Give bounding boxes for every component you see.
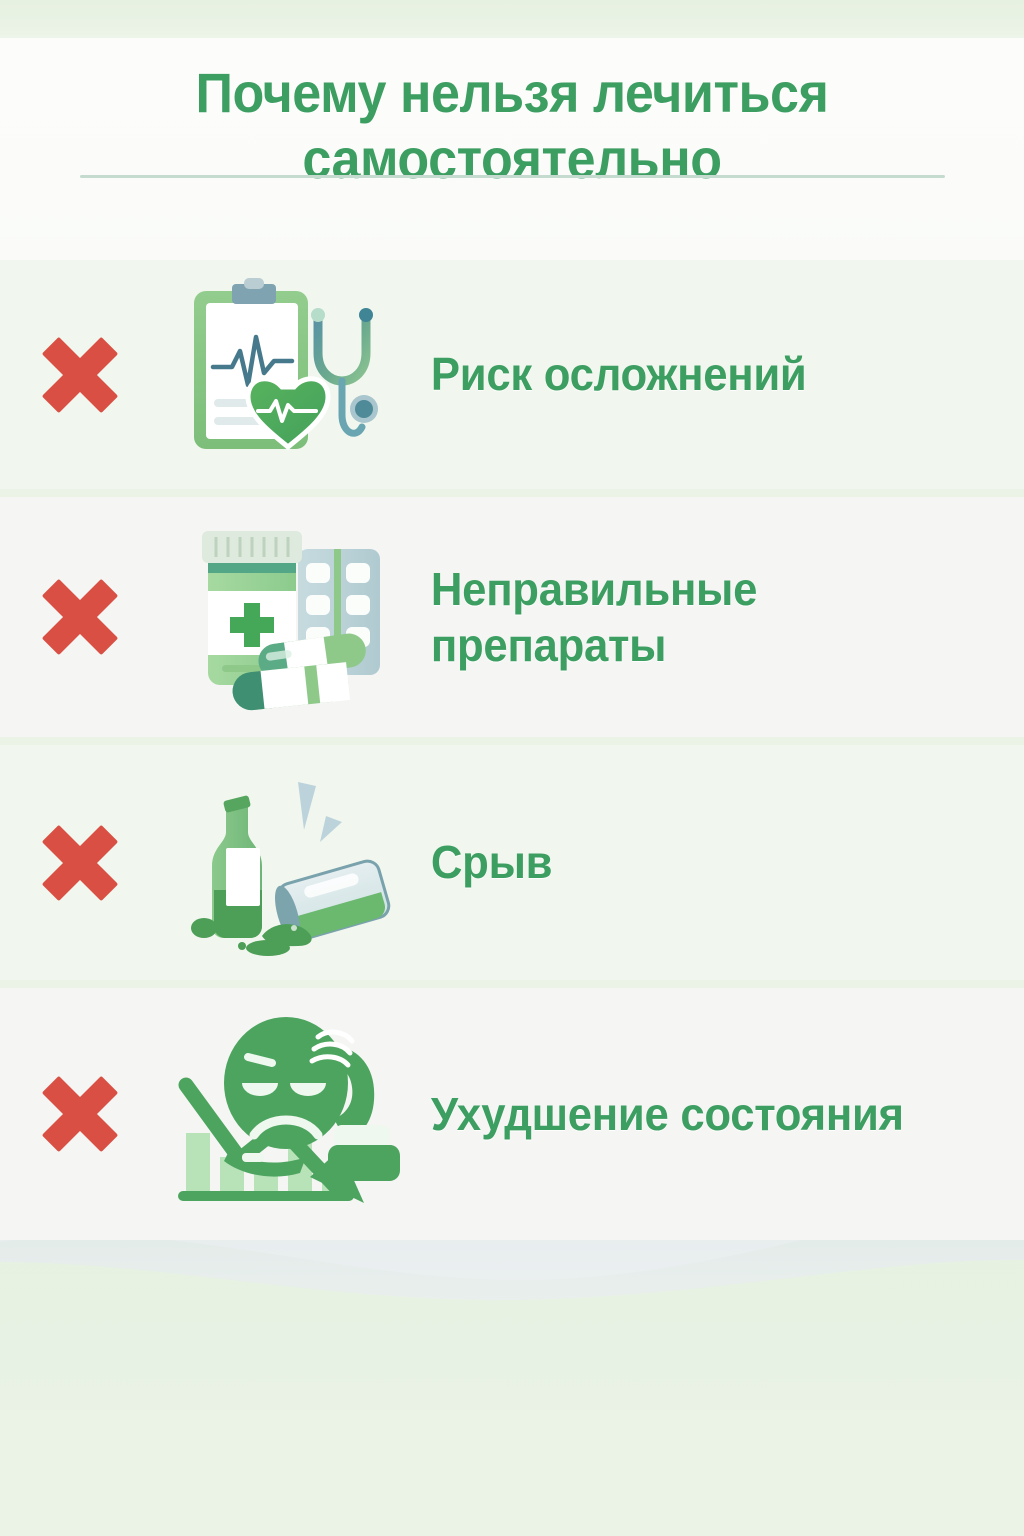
red-cross-icon xyxy=(0,576,160,658)
list-item: Ухудшение состояния xyxy=(0,988,1024,1240)
sad-face-declining-chart-icon xyxy=(160,1007,410,1222)
list-item: Неправильныепрепараты xyxy=(0,497,1024,737)
top-background-band xyxy=(0,0,1024,40)
infographic-poster: Почему нельзя лечитьсясамостоятельно xyxy=(0,0,1024,1536)
list-item: Риск осложнений xyxy=(0,260,1024,489)
page-title: Почему нельзя лечитьсясамостоятельно xyxy=(36,60,988,192)
list-item-label: Риск осложнений xyxy=(410,346,993,402)
title-divider xyxy=(80,175,945,178)
medical-clipboard-heart-stethoscope-icon xyxy=(160,275,410,475)
list-item-label: Неправильныепрепараты xyxy=(410,561,993,673)
reasons-list: Риск осложнений xyxy=(0,260,1024,1248)
list-item-label: Ухудшение состояния xyxy=(410,1086,993,1142)
list-item-label: Срыв xyxy=(410,834,993,890)
bottle-spilled-glass-icon xyxy=(160,760,410,965)
red-cross-icon xyxy=(0,822,160,904)
red-cross-icon xyxy=(0,334,160,416)
poster-header: Почему нельзя лечитьсясамостоятельно xyxy=(0,60,1024,192)
pill-bottle-blister-capsules-icon xyxy=(160,515,410,720)
list-item: Срыв xyxy=(0,745,1024,980)
red-cross-icon xyxy=(0,1073,160,1155)
